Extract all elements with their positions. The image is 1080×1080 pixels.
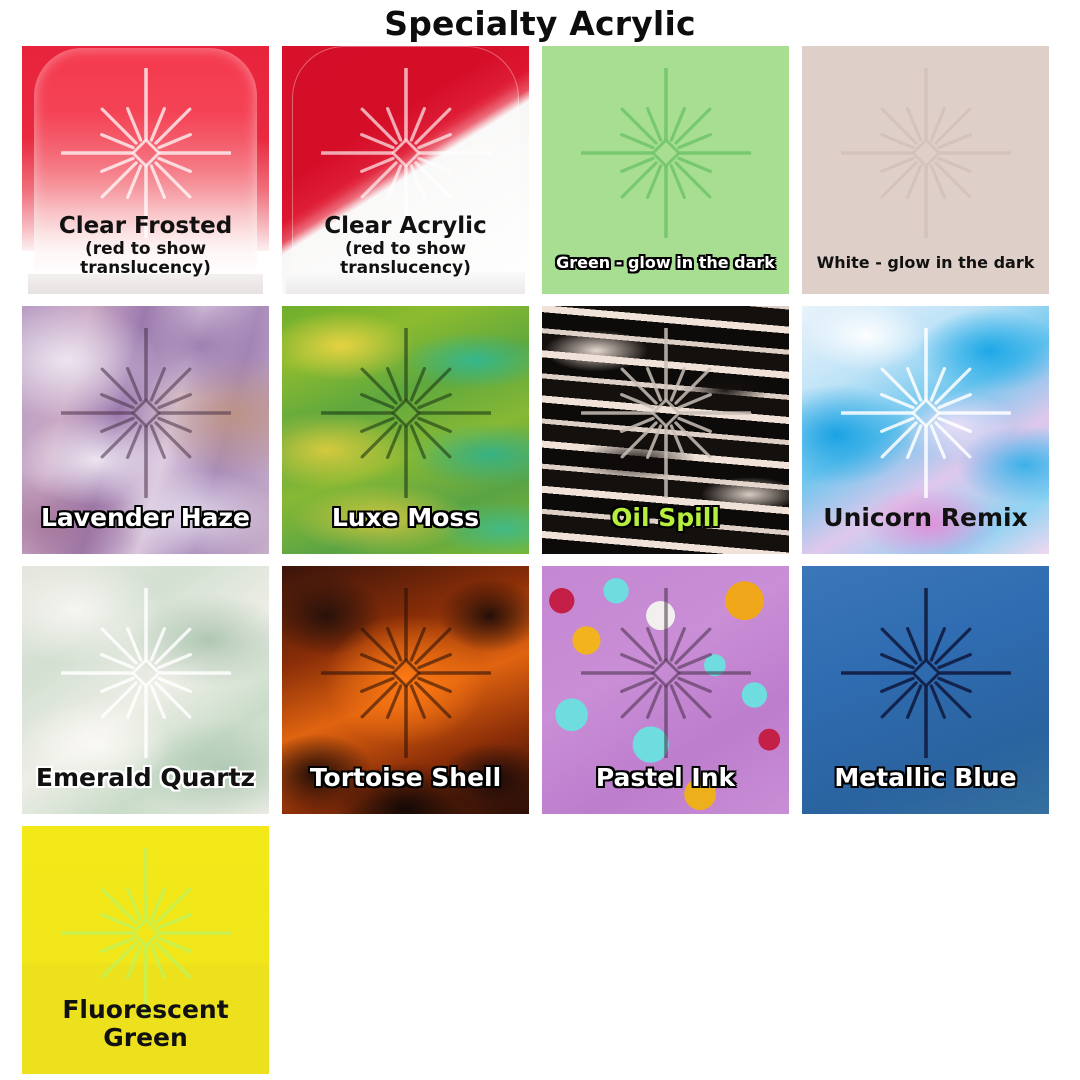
swatch-tile[interactable]: Luxe Moss (282, 306, 529, 554)
swatch-tile[interactable]: Clear Frosted(red to showtranslucency) (22, 46, 269, 294)
swatch-label-name: White - glow in the dark (806, 254, 1045, 272)
swatch-label-note-line2: translucency) (26, 259, 265, 278)
swatch-label: Metallic Blue (802, 764, 1049, 792)
swatch-tile[interactable]: Clear Acrylic(red to showtranslucency) (282, 46, 529, 294)
swatch-label: Unicorn Remix (802, 504, 1049, 532)
swatch-label-name: Emerald Quartz (26, 764, 265, 792)
swatch-label: Fluorescent Green (22, 996, 269, 1052)
swatch-label-name: Pastel Ink (546, 764, 785, 792)
swatch-label-name: Clear Frosted (26, 214, 265, 240)
swatch-label-name: Lavender Haze (26, 504, 265, 532)
swatch-label-name: Clear Acrylic (286, 214, 525, 240)
swatch-label-name: Green - glow in the dark (546, 254, 785, 272)
swatch-tile[interactable]: Oil Spill (542, 306, 789, 554)
swatch-tile[interactable]: Metallic Blue (802, 566, 1049, 814)
swatch-label: Clear Acrylic(red to showtranslucency) (282, 214, 529, 278)
swatch-label-name: Luxe Moss (286, 504, 525, 532)
swatch-label: White - glow in the dark (802, 254, 1049, 272)
swatch-label-note-line1: (red to show (26, 240, 265, 259)
swatch-label-name: Oil Spill (546, 504, 785, 532)
swatch-tile[interactable]: Tortoise Shell (282, 566, 529, 814)
swatch-tile[interactable]: White - glow in the dark (802, 46, 1049, 294)
swatch-tile[interactable]: Unicorn Remix (802, 306, 1049, 554)
swatch-label-name: Unicorn Remix (806, 504, 1045, 532)
swatch-tile[interactable]: Lavender Haze (22, 306, 269, 554)
swatch-label: Pastel Ink (542, 764, 789, 792)
swatch-label-note-line2: translucency) (286, 259, 525, 278)
swatch-label-note-line1: (red to show (286, 240, 525, 259)
swatch-tile[interactable]: Fluorescent Green (22, 826, 269, 1074)
swatch-label-name: Fluorescent Green (26, 996, 265, 1052)
swatch-label: Green - glow in the dark (542, 254, 789, 272)
page-title: Specialty Acrylic (0, 0, 1080, 46)
swatch-label-name: Metallic Blue (806, 764, 1045, 792)
swatch-tile[interactable]: Pastel Ink (542, 566, 789, 814)
swatch-tile[interactable]: Emerald Quartz (22, 566, 269, 814)
swatch-label: Lavender Haze (22, 504, 269, 532)
swatch-grid: Clear Frosted(red to showtranslucency)Cl… (22, 46, 1058, 1078)
swatch-label: Clear Frosted(red to showtranslucency) (22, 214, 269, 278)
swatch-label-name: Tortoise Shell (286, 764, 525, 792)
swatch-label: Emerald Quartz (22, 764, 269, 792)
swatch-tile[interactable]: Green - glow in the dark (542, 46, 789, 294)
swatch-label: Oil Spill (542, 504, 789, 532)
swatch-label: Tortoise Shell (282, 764, 529, 792)
swatch-label: Luxe Moss (282, 504, 529, 532)
